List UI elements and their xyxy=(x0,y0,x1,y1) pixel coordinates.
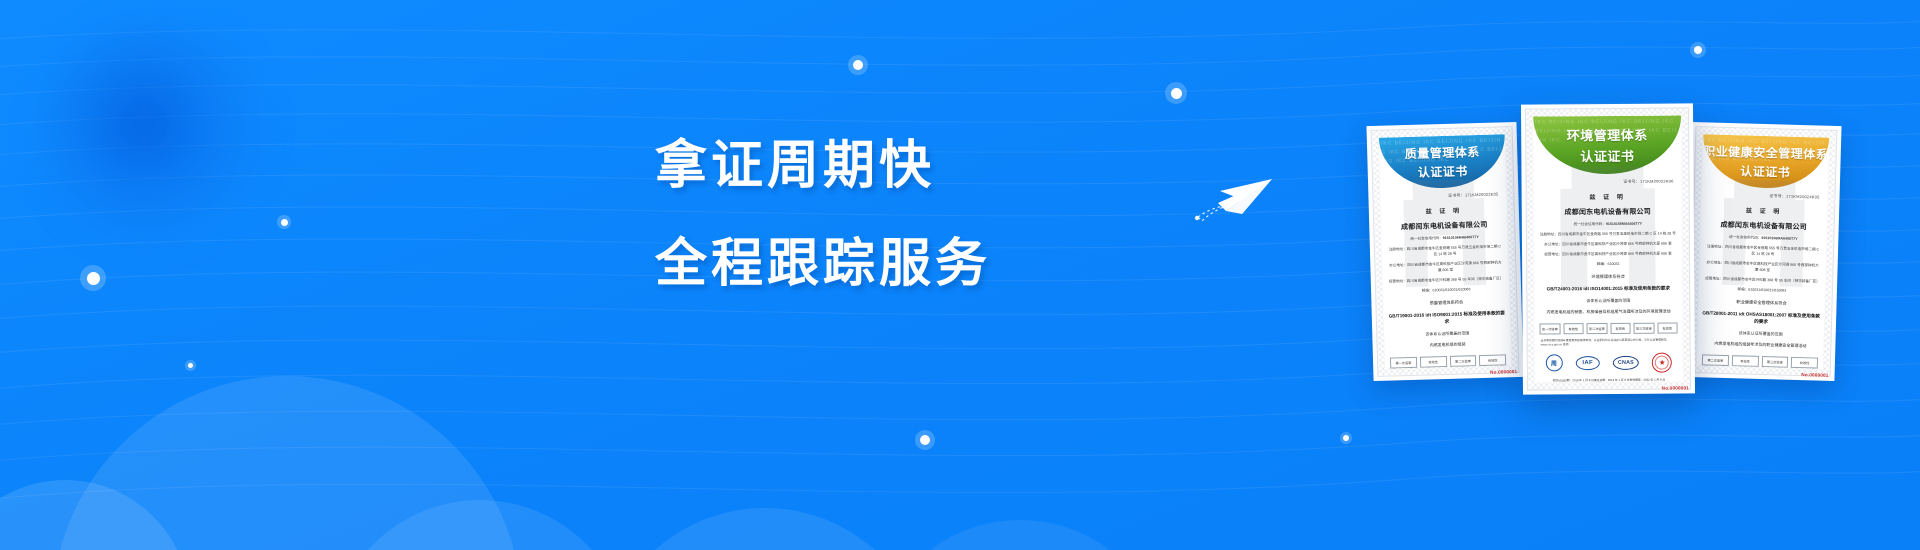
audit-box: 有效性 xyxy=(1563,323,1584,334)
audit-box: 有效性 xyxy=(1657,323,1678,334)
certificate-serial: No.0000001 xyxy=(1490,369,1517,375)
background-dot xyxy=(1340,432,1352,444)
certificate-address-1: 注册地址：四川省成都市金牛区金府路 555 号万贯五金机电市场二期 C 区 14… xyxy=(1382,243,1508,259)
certificate-address-2: 办公地址：四川省成都市金牛区高科技产业区沙河源 866 号西部钟机大厦 606 … xyxy=(1699,259,1825,275)
cnas-icon: CNAS xyxy=(1613,356,1639,370)
certificate-border: IKC BEIJING IKC BEIJING IKC BEIJING IKC … xyxy=(1525,107,1691,390)
certificate-number-label: 证书号： xyxy=(1769,193,1786,198)
certificate-company-name: 成都闰东电机设备有限公司 xyxy=(1701,219,1827,233)
certificate-header-banner: IKC BEIJING IKC BEIJING IKC BEIJING IKC … xyxy=(1379,134,1506,189)
certificate-credit-code: 统一社会信用代码：91510106MA6406T7Y xyxy=(1382,233,1508,243)
credit-code-label: 统一社会信用代码： xyxy=(1729,235,1761,240)
certify-label: 兹 证 明 xyxy=(1534,191,1682,201)
background-dot xyxy=(848,55,868,75)
audit-box: 第三次监审 xyxy=(1634,323,1655,334)
certificate-address-2: 办公地址：四川省成都市金牛区高科技产业区沙河源 866 号西部钟机大厦 606 … xyxy=(1534,240,1682,247)
background-dot xyxy=(1690,42,1706,58)
expiry-date-label: 有效期至： xyxy=(1629,378,1643,382)
certificate-border: IKC BEIJING IKC BEIJING IKC BEIJING IKC … xyxy=(1371,126,1520,377)
audit-box: 有效性 xyxy=(1791,357,1818,369)
background-dot xyxy=(915,430,935,450)
background-dot xyxy=(277,215,291,229)
certificate-occupational-health-safety-management-system[interactable]: IKC BEIJING IKC BEIJING IKC BEIJING IKC … xyxy=(1684,122,1841,381)
background-dot xyxy=(80,265,106,291)
audit-box: 第一次监审 xyxy=(1390,357,1417,369)
iaf-icon: IAF xyxy=(1576,356,1600,370)
certificate-system-label: 质量管理体系符合 xyxy=(1383,298,1509,308)
certificate-title-line-1: 职业健康安全管理体系 xyxy=(1703,142,1828,162)
certificate-number-label: 证书号： xyxy=(1623,179,1640,184)
certificate-postcode: 邮编：610031 xyxy=(1534,260,1682,267)
certificate-audit-boxes: 第一次监审 有效性 第二次监审 有效性 xyxy=(1385,354,1511,369)
certificate-header-banner: IKC BEIJING IKC BEIJING IKC BEIJING IKC … xyxy=(1533,115,1681,174)
certificate-stack: IKC BEIJING IKC BEIJING IKC BEIJING IKC … xyxy=(1360,80,1900,410)
certificate-audit-boxes: 第一次监审 有效性 第二次监审 有效性 第三次监审 有效性 xyxy=(1535,322,1683,334)
certificate-scope-label: 该体系认证所覆盖的范围 xyxy=(1534,297,1682,304)
certificate-body: IKC BEIJING IKC BEIJING IKC BEIJING IKC … xyxy=(1379,134,1511,368)
certificate-serial: No.0000001 xyxy=(1662,385,1689,390)
certificate-system-label: 环境管理体系符合 xyxy=(1534,273,1682,280)
certificate-scope: 内燃发电机组的组装年涉及的职业健康安全管理活动 xyxy=(1697,340,1823,350)
promo-banner: 拿证周期快 全程跟踪服务 IKC BEIJING IKC BEIJING IKC… xyxy=(0,0,1920,550)
background-circle-right xyxy=(870,520,1170,550)
certificate-address-2: 办公地址：四川省成都市金牛区高科技产业区沙河源 866 号西部钟机大厦 606 … xyxy=(1382,259,1508,275)
certificate-fine-print: 证书有效期内须经年度监督审核保持有效，认证机构的认证决定以其官网公布为准。可在认… xyxy=(1535,337,1683,347)
certificate-credit-code: 统一社会信用代码：91510106MA6406T7Y xyxy=(1534,220,1682,227)
credit-code-label: 统一社会信用代码： xyxy=(1574,222,1606,226)
audit-box: 第二次监审 xyxy=(1449,355,1476,367)
certificate-body: IKC BEIJING IKC BEIJING IKC BEIJING IKC … xyxy=(1697,134,1829,368)
credit-code-value: 91510106MA6406T7Y xyxy=(1761,236,1797,241)
certificate-number-value: 171KM20024K05 xyxy=(1786,194,1820,200)
certificate-quality-management-system[interactable]: IKC BEIJING IKC BEIJING IKC BEIJING IKC … xyxy=(1366,122,1523,381)
certificate-number: 证书号：171KM20022K05 xyxy=(1380,191,1498,200)
seal-icon: 周 xyxy=(1545,355,1562,372)
certificate-company-name: 成都闰东电机设备有限公司 xyxy=(1381,219,1507,233)
certificate-dates: 初次认证日期：2018 年 1 月 8 日换证日期：2019 年 1 月 8 日… xyxy=(1535,377,1683,382)
red-stamp-icon xyxy=(1652,352,1672,372)
certificate-serial: No.0000001 xyxy=(1801,372,1828,378)
paper-plane-icon xyxy=(1186,165,1280,237)
issue-date-value: 2018 年 1 月 8 日 xyxy=(1572,378,1594,382)
certificate-number-value: 171KM20022K06 xyxy=(1640,179,1674,184)
certificate-address-3: 经营地址：四川省成都市金牛区高科技产业区沙河源 866 号西部钟机大厦 606 … xyxy=(1534,250,1682,257)
certificate-title-line-2: 认证证书 xyxy=(1580,146,1634,165)
certify-label: 兹 证 明 xyxy=(1381,204,1507,217)
certificate-standard: GB/T24001-2016 idt ISO14001:2015 标准及使用条款… xyxy=(1534,284,1682,292)
headline-line-1: 拿证周期快 xyxy=(655,140,1075,192)
certificate-postcode: 邮编：610031/610031/610083 xyxy=(1383,285,1509,295)
certificate-border: IKC BEIJING IKC BEIJING IKC BEIJING IKC … xyxy=(1689,126,1838,377)
certificate-title-line-2: 认证证书 xyxy=(1740,162,1790,180)
certificate-header-banner: IKC BEIJING IKC BEIJING IKC BEIJING IKC … xyxy=(1702,134,1829,189)
expiry-date-value: 2022 年 1 月 8 日 xyxy=(1643,377,1665,381)
certificate-address-1: 注册地址：四川省成都市金牛区金府路 555 号万贯五金机电市场二期 C 区 14… xyxy=(1534,230,1682,237)
credit-code-value: 91510106MA6406T7Y xyxy=(1606,222,1642,226)
certificate-body: IKC BEIJING IKC BEIJING IKC BEIJING IKC … xyxy=(1533,115,1683,382)
certificate-postcode: 邮编：610031/610031/610083 xyxy=(1699,285,1825,295)
certificate-scope: 内燃发电机组的组装 xyxy=(1385,340,1511,350)
certificate-title-line-2: 认证证书 xyxy=(1418,162,1468,180)
reissue-date-label: 换证日期： xyxy=(1594,378,1608,382)
credit-code-label: 统一社会信用代码： xyxy=(1410,236,1442,241)
background-circle-mid-right xyxy=(600,508,930,550)
certificate-environmental-management-system[interactable]: IKC BEIJING IKC BEIJING IKC BEIJING IKC … xyxy=(1521,103,1695,394)
certificate-number-label: 证书号： xyxy=(1448,192,1465,197)
certificate-number-value: 171KM20022K05 xyxy=(1465,191,1499,197)
certify-label: 兹 证 明 xyxy=(1701,204,1827,217)
certificate-title-line-1: 质量管理体系 xyxy=(1404,143,1479,162)
credit-code-value: 91510106MA6406T7Y xyxy=(1443,235,1479,240)
audit-box: 有效性 xyxy=(1610,323,1631,334)
certificate-audit-boxes: 第二次监审 有效性 第三次监审 有效性 xyxy=(1697,354,1823,369)
audit-box: 有效性 xyxy=(1420,356,1447,368)
certificate-number: 证书号：171KM20022K06 xyxy=(1534,179,1674,186)
audit-box: 第二次监审 xyxy=(1702,354,1729,366)
certificate-company-name: 成都闰东电机设备有限公司 xyxy=(1534,206,1682,217)
reissue-date-value: 2019 年 1 月 8 日 xyxy=(1608,378,1630,382)
audit-box: 第一次监审 xyxy=(1540,323,1561,334)
certificate-address-3: 经营地址：四川省成都市金牛区兴科路 368 号 55 车间（神华装备厂区） xyxy=(1383,275,1509,285)
certificate-title-line-1: 环境管理体系 xyxy=(1567,125,1648,145)
certificate-system-label: 职业健康安全管理体系符合 xyxy=(1699,298,1825,308)
certificate-scope: 内燃发电机组的销售、机房噪音及机组尾气治理所涉及的环境管理活动 xyxy=(1534,308,1682,315)
certificate-address-1: 注册地址：四川省成都市金牛区金府路 555 号万贯五金机电市场二期 C 区 14… xyxy=(1700,243,1826,259)
certificate-standard: GB/T28001-2011 idt OHSAS18001:2007 标准及使用… xyxy=(1698,309,1824,327)
audit-box: 有效性 xyxy=(1479,354,1506,366)
certificate-logo-row: 周 IAF CNAS xyxy=(1535,352,1683,373)
background-dot xyxy=(185,360,196,371)
certificate-address-3: 经营地址：四川省成都市金牛区兴科路 368 号 55 车间（神华装备厂区） xyxy=(1699,275,1825,285)
background-dot xyxy=(1165,82,1187,104)
certificate-scope-label: 该体系认证所覆盖的范围 xyxy=(1698,329,1824,339)
certificate-standard: GB/T19001-2016 idt ISO9001:2015 标准及使用条款的… xyxy=(1384,309,1510,327)
certificate-number: 证书号：171KM20024K05 xyxy=(1701,191,1819,200)
certificate-scope-label: 该体系认证所覆盖的范围 xyxy=(1384,329,1510,339)
headline-line-2: 全程跟踪服务 xyxy=(655,238,1075,290)
audit-box: 第三次监审 xyxy=(1761,356,1788,368)
background-glow-blob xyxy=(40,20,270,250)
certificate-credit-code: 统一社会信用代码：91510106MA6406T7Y xyxy=(1700,233,1826,243)
headline-block: 拿证周期快 全程跟踪服务 xyxy=(655,140,1075,290)
audit-box: 第二次监审 xyxy=(1587,323,1608,334)
issue-date-label: 初次认证日期： xyxy=(1553,378,1573,382)
audit-box: 有效性 xyxy=(1732,355,1759,367)
